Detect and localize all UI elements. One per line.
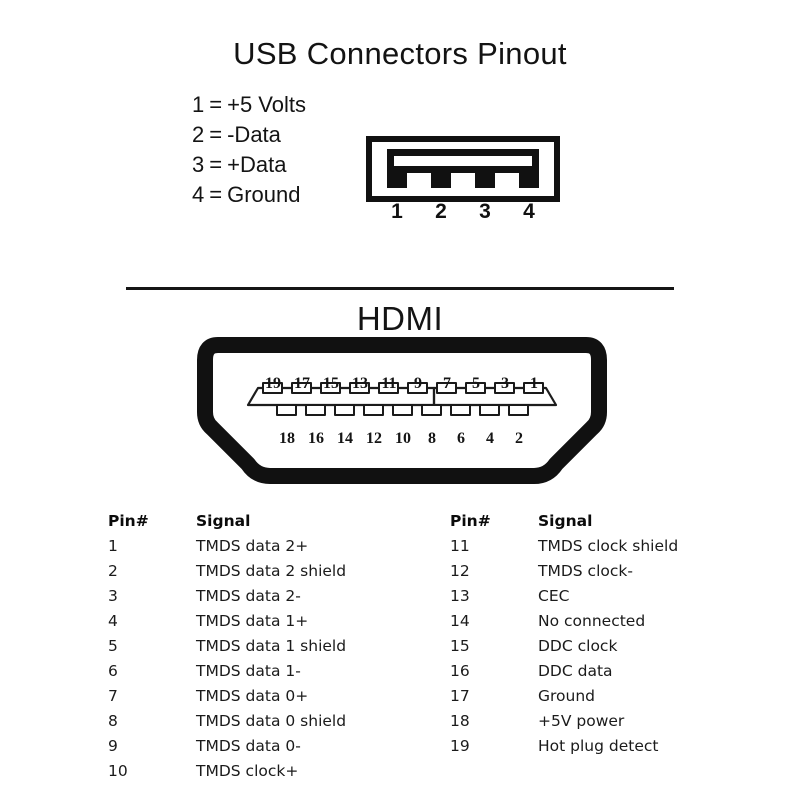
usb-legend-signal: +Data xyxy=(227,150,286,180)
usb-legend-pin-number: 4 xyxy=(192,180,204,210)
hdmi-contact-12 xyxy=(363,404,384,416)
cell-pin-number: 13 xyxy=(450,587,470,605)
cell-pin-number: 15 xyxy=(450,637,470,655)
cell-pin-number: 17 xyxy=(450,687,470,705)
hdmi-pin-number-6: 6 xyxy=(448,430,474,448)
cell-pin-number: 7 xyxy=(108,687,118,705)
usb-pin-number-2: 2 xyxy=(429,200,453,224)
cell-signal-name: TMDS clock shield xyxy=(538,537,678,555)
cell-pin-number: 19 xyxy=(450,737,470,755)
column-header-pin: Pin# xyxy=(450,512,491,530)
usb-legend-row: 1=+5 Volts xyxy=(192,90,306,120)
hdmi-pin-number-11: 11 xyxy=(376,375,402,393)
hdmi-contact-14 xyxy=(334,404,355,416)
cell-pin-number: 12 xyxy=(450,562,470,580)
hdmi-pin-number-17: 17 xyxy=(289,375,315,393)
cell-pin-number: 14 xyxy=(450,612,470,630)
hdmi-contact-2 xyxy=(508,404,529,416)
cell-signal-name: TMDS data 2- xyxy=(196,587,301,605)
cell-signal-name: No connected xyxy=(538,612,645,630)
cell-signal-name: TMDS data 0 shield xyxy=(196,712,346,730)
column-header-signal: Signal xyxy=(196,512,250,530)
usb-legend-pin-number: 1 xyxy=(192,90,204,120)
hdmi-pin-number-1: 1 xyxy=(521,375,547,393)
cell-pin-number: 11 xyxy=(450,537,470,555)
hdmi-pin-number-19: 19 xyxy=(260,375,286,393)
page-title: USB Connectors Pinout xyxy=(0,36,800,72)
usb-contact-1 xyxy=(387,173,407,188)
cell-pin-number: 6 xyxy=(108,662,118,680)
hdmi-pin-number-8: 8 xyxy=(419,430,445,448)
cell-pin-number: 3 xyxy=(108,587,118,605)
hdmi-pin-number-13: 13 xyxy=(347,375,373,393)
usb-legend-signal: +5 Volts xyxy=(227,90,306,120)
cell-signal-name: TMDS data 0+ xyxy=(196,687,308,705)
cell-pin-number: 5 xyxy=(108,637,118,655)
usb-pin-number-4: 4 xyxy=(517,200,541,224)
hdmi-contact-6 xyxy=(450,404,471,416)
cell-pin-number: 16 xyxy=(450,662,470,680)
usb-contact-2 xyxy=(431,173,451,188)
usb-connector-diagram xyxy=(366,136,560,202)
usb-pin-legend: 1=+5 Volts2=-Data3=+Data4=Ground xyxy=(192,90,306,210)
hdmi-pin-number-4: 4 xyxy=(477,430,503,448)
usb-pin-number-3: 3 xyxy=(473,200,497,224)
hdmi-contact-16 xyxy=(305,404,326,416)
hdmi-contact-8 xyxy=(421,404,442,416)
cell-pin-number: 4 xyxy=(108,612,118,630)
usb-legend-signal: Ground xyxy=(227,180,300,210)
hdmi-pin-number-2: 2 xyxy=(506,430,532,448)
cell-signal-name: TMDS data 1+ xyxy=(196,612,308,630)
usb-legend-equals: = xyxy=(204,180,227,210)
usb-legend-signal: -Data xyxy=(227,120,281,150)
cell-pin-number: 1 xyxy=(108,537,118,555)
usb-legend-equals: = xyxy=(204,90,227,120)
cell-signal-name: DDC clock xyxy=(538,637,617,655)
hdmi-pin-number-18: 18 xyxy=(274,430,300,448)
hdmi-pin-number-15: 15 xyxy=(318,375,344,393)
cell-pin-number: 18 xyxy=(450,712,470,730)
cell-pin-number: 2 xyxy=(108,562,118,580)
usb-contact-4 xyxy=(519,173,539,188)
hdmi-pin-number-9: 9 xyxy=(405,375,431,393)
usb-legend-row: 4=Ground xyxy=(192,180,306,210)
usb-pin-number-1: 1 xyxy=(385,200,409,224)
usb-connector-tongue-bar xyxy=(387,166,539,173)
cell-pin-number: 8 xyxy=(108,712,118,730)
usb-legend-equals: = xyxy=(204,150,227,180)
cell-pin-number: 10 xyxy=(108,762,128,780)
usb-legend-row: 3=+Data xyxy=(192,150,306,180)
cell-signal-name: TMDS clock+ xyxy=(196,762,298,780)
usb-pin-number-row: 1234 xyxy=(366,200,560,228)
hdmi-pin-number-7: 7 xyxy=(434,375,460,393)
usb-legend-pin-number: 2 xyxy=(192,120,204,150)
hdmi-pinout-table: Pin#Signal1TMDS data 2+2TMDS data 2 shie… xyxy=(0,512,800,800)
column-header-pin: Pin# xyxy=(108,512,149,530)
cell-signal-name: TMDS data 2+ xyxy=(196,537,308,555)
cell-pin-number: 9 xyxy=(108,737,118,755)
cell-signal-name: TMDS data 1 shield xyxy=(196,637,346,655)
usb-legend-equals: = xyxy=(204,120,227,150)
cell-signal-name: Hot plug detect xyxy=(538,737,658,755)
cell-signal-name: TMDS data 0- xyxy=(196,737,301,755)
usb-section: USB Connectors Pinout 1=+5 Volts2=-Data3… xyxy=(0,0,800,280)
section-divider xyxy=(126,287,674,290)
cell-signal-name: Ground xyxy=(538,687,595,705)
hdmi-pin-number-5: 5 xyxy=(463,375,489,393)
hdmi-contact-18 xyxy=(276,404,297,416)
cell-signal-name: TMDS data 2 shield xyxy=(196,562,346,580)
cell-signal-name: DDC data xyxy=(538,662,613,680)
hdmi-pin-number-12: 12 xyxy=(361,430,387,448)
cell-signal-name: TMDS clock- xyxy=(538,562,633,580)
usb-legend-pin-number: 3 xyxy=(192,150,204,180)
cell-signal-name: +5V power xyxy=(538,712,624,730)
hdmi-pin-number-16: 16 xyxy=(303,430,329,448)
cell-signal-name: TMDS data 1- xyxy=(196,662,301,680)
hdmi-heading: HDMI xyxy=(0,300,800,338)
hdmi-pin-number-3: 3 xyxy=(492,375,518,393)
usb-legend-row: 2=-Data xyxy=(192,120,306,150)
hdmi-pin-number-10: 10 xyxy=(390,430,416,448)
usb-contact-3 xyxy=(475,173,495,188)
cell-signal-name: CEC xyxy=(538,587,569,605)
hdmi-pin-number-14: 14 xyxy=(332,430,358,448)
hdmi-contact-4 xyxy=(479,404,500,416)
hdmi-contact-10 xyxy=(392,404,413,416)
column-header-signal: Signal xyxy=(538,512,592,530)
